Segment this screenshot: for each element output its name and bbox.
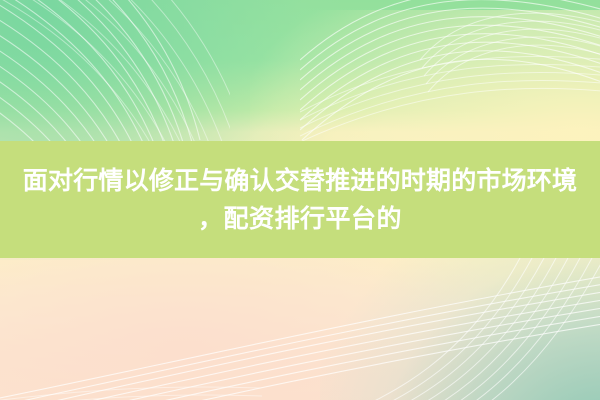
title-line-2: ，配资排行平台的 <box>198 200 402 238</box>
title-banner-strip: 面对行情以修正与确认交替推进的时期的市场环境 ，配资排行平台的 <box>0 141 600 258</box>
title-line-1: 面对行情以修正与确认交替推进的时期的市场环境 <box>23 162 577 200</box>
banner-image: 面对行情以修正与确认交替推进的时期的市场环境 ，配资排行平台的 <box>0 0 600 400</box>
